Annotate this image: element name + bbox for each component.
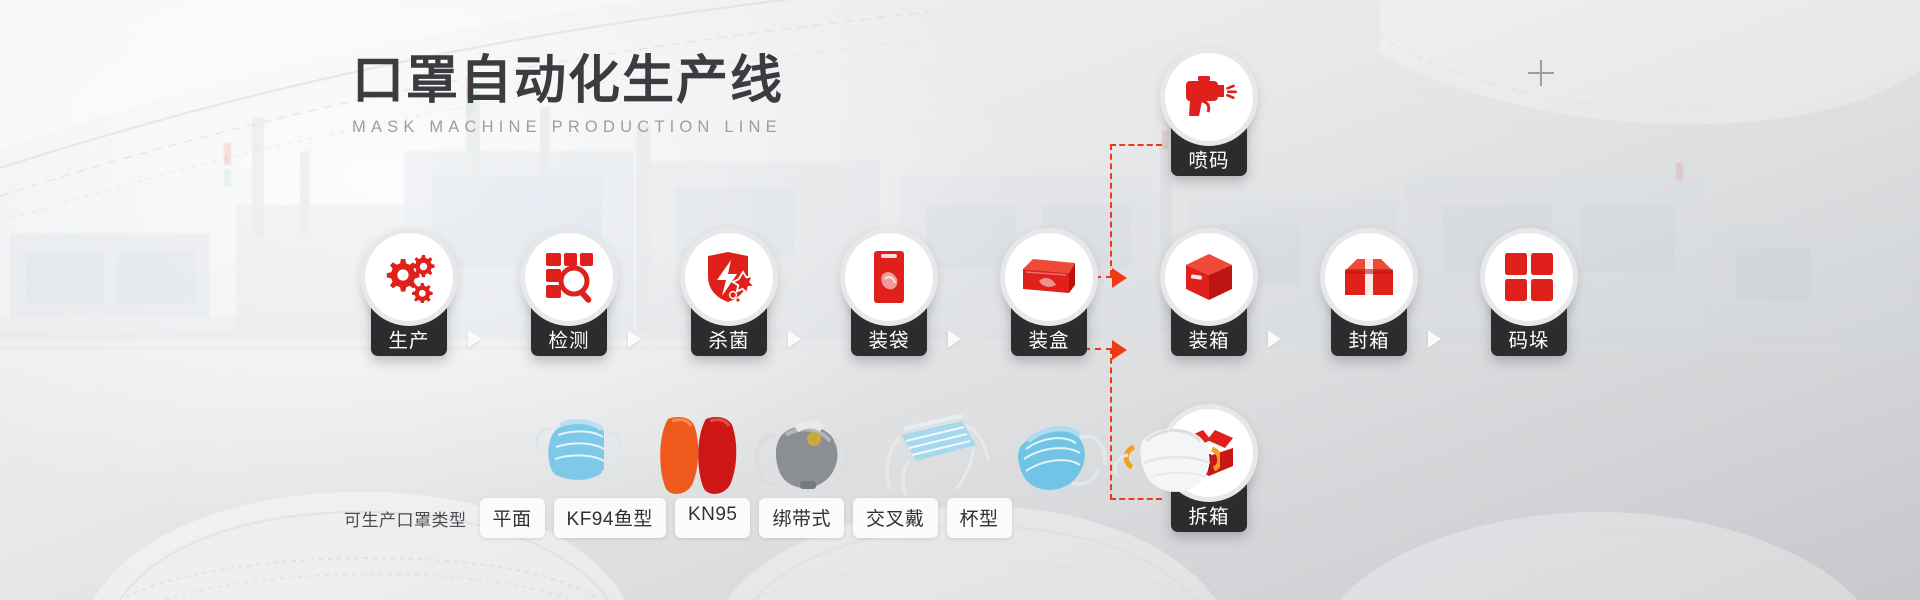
mask-type-chip[interactable]: 绑带式 — [759, 498, 844, 538]
branch-line-vertical-up — [1110, 144, 1112, 276]
photo-kf94-masks — [660, 417, 736, 494]
photo-kn95-mask — [757, 425, 847, 490]
background-mask-watermark-right — [1300, 492, 1900, 600]
node-label: 检测 — [531, 328, 607, 354]
mask-type-chip[interactable]: 交叉戴 — [853, 498, 938, 538]
branch-line-stub-lower — [1084, 348, 1112, 350]
flow-arrow-white-6 — [1428, 330, 1441, 348]
shield-sterilize-icon — [701, 250, 757, 304]
node-icon-badge — [1320, 228, 1418, 326]
flow-arrow-red-1 — [1112, 268, 1127, 288]
photo-tie-on-mask — [887, 415, 988, 495]
node-label: 封箱 — [1331, 328, 1407, 354]
page-title-block: 口罩自动化生产线 MASK MACHINE PRODUCTION LINE — [352, 52, 912, 137]
node-label: 装袋 — [851, 328, 927, 354]
mask-product-photos — [500, 415, 1220, 500]
node-icon-badge — [520, 228, 618, 326]
node-label: 码垛 — [1491, 328, 1567, 354]
box-open-flat-icon — [1019, 255, 1079, 299]
flow-arrow-white-1 — [468, 330, 481, 348]
node-label: 生产 — [371, 328, 447, 354]
flow-arrow-white-2 — [628, 330, 641, 348]
carton-sealed-icon — [1341, 255, 1397, 299]
node-icon-badge — [840, 228, 938, 326]
node-icon-badge — [360, 228, 458, 326]
photo-flat-mask — [537, 422, 622, 480]
mask-type-chip[interactable]: 平面 — [480, 498, 545, 538]
branch-line-horizontal-up — [1110, 144, 1162, 146]
node-icon-badge — [1480, 228, 1578, 326]
node-label: 拆箱 — [1171, 504, 1247, 530]
node-label: 装盒 — [1011, 328, 1087, 354]
node-label: 杀菌 — [691, 328, 767, 354]
photo-crosswear-mask — [1018, 429, 1105, 490]
node-icon-badge — [1160, 48, 1258, 146]
palletize-grid-icon — [1503, 251, 1555, 303]
node-label: 装箱 — [1171, 328, 1247, 354]
page-subtitle: MASK MACHINE PRODUCTION LINE — [352, 118, 912, 137]
magnifier-inspect-icon — [542, 250, 596, 304]
node-icon-badge — [680, 228, 778, 326]
carton-cube-icon — [1182, 251, 1236, 303]
photo-cup-mask — [1115, 429, 1220, 492]
node-icon-badge — [1160, 228, 1258, 326]
mask-type-chip[interactable]: KN95 — [675, 498, 751, 538]
gears-icon — [381, 251, 437, 303]
flow-arrow-white-5 — [1268, 330, 1281, 348]
mask-type-chip[interactable]: 杯型 — [947, 498, 1012, 538]
mask-type-chip[interactable]: KF94鱼型 — [554, 498, 666, 538]
mask-production-line-banner: 口罩自动化生产线 MASK MACHINE PRODUCTION LINE 生产… — [0, 0, 1920, 600]
mask-type-chip-group: 平面KF94鱼型KN95绑带式交叉戴杯型 — [480, 498, 1012, 538]
mask-types-row: 可生产口罩类型 平面KF94鱼型KN95绑带式交叉戴杯型 — [344, 498, 1012, 538]
mask-types-label: 可生产口罩类型 — [344, 506, 467, 531]
page-title: 口罩自动化生产线 — [352, 52, 912, 110]
flow-arrow-white-4 — [948, 330, 961, 348]
bag-pack-icon — [872, 249, 906, 305]
node-icon-badge — [1000, 228, 1098, 326]
flow-arrow-white-3 — [788, 330, 801, 348]
background-mask-watermark-top — [1380, 0, 1920, 150]
flow-arrow-red-2 — [1112, 340, 1127, 360]
inkjet-spray-gun-icon — [1180, 74, 1238, 120]
node-label: 喷码 — [1171, 148, 1247, 174]
